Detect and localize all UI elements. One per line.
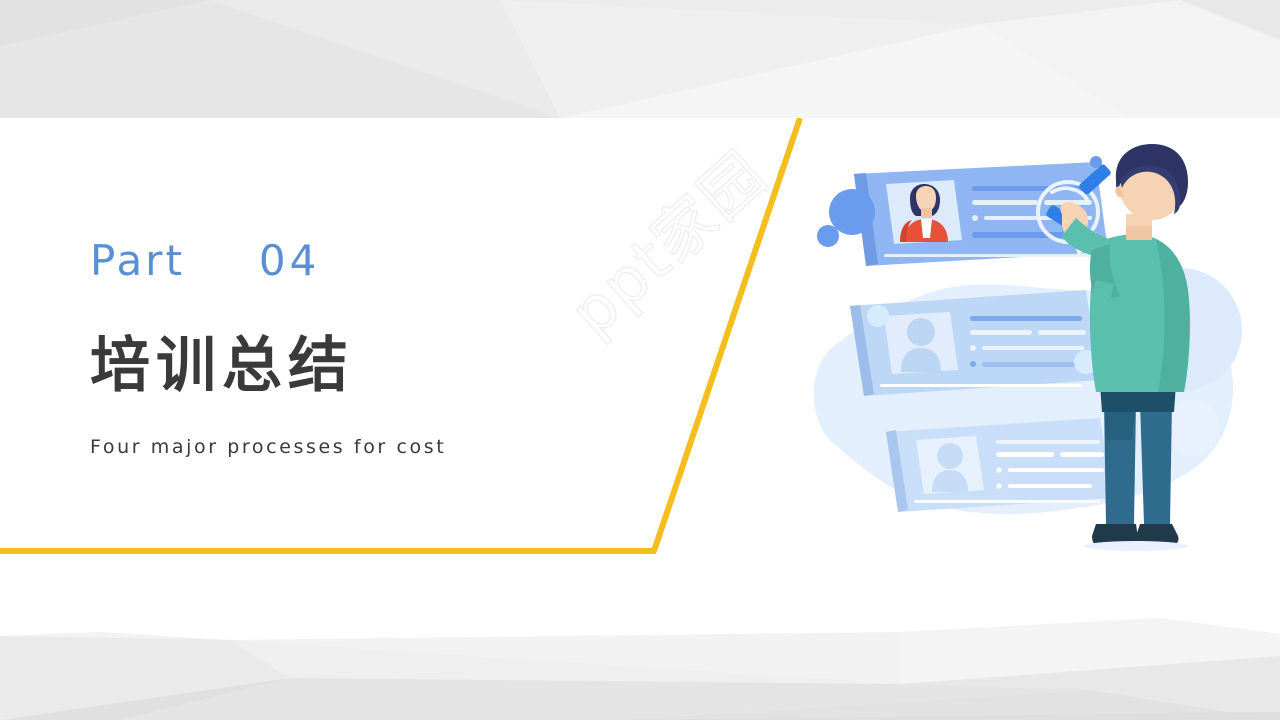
part-label: Part [90,240,185,282]
card-middle [850,290,1100,396]
bottom-polygon-graphic [0,618,1280,720]
card-back [886,418,1112,512]
decor-dot-card-middle [867,305,889,327]
accent-rule-diagonal [650,118,806,554]
accent-rule-horizontal [0,548,656,554]
decor-circle-front-large [829,189,875,235]
accent-diagonal-graphic [650,118,806,554]
top-polygon-graphic [0,0,1280,118]
title-group: Part 04 培训总结 Four major processes for co… [90,240,610,457]
bottom-polygon-band [0,618,1280,720]
top-polygon-band [0,0,1280,118]
decor-circle-front-small [817,225,839,247]
page-title: 培训总结 [90,336,610,396]
page-subtitle: Four major processes for cost [90,438,610,457]
figure-leg-right [1140,402,1172,524]
figure-shadow [1084,541,1188,551]
slide-root: ppt家园 Part 04 培训总结 Four major processes … [0,0,1280,720]
part-line: Part 04 [90,240,610,282]
part-number: 04 [259,240,320,282]
hero-illustration [800,140,1260,580]
illustration-graphic [800,140,1260,580]
